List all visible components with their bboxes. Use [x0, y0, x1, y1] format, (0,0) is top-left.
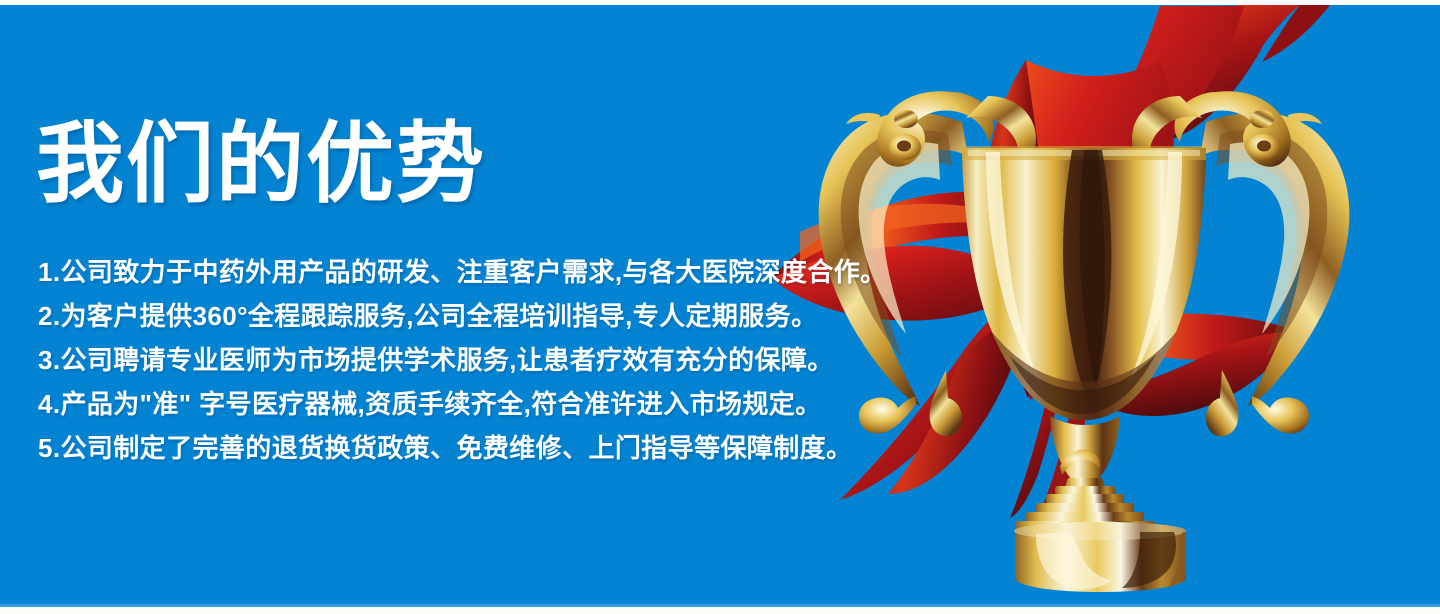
page-title: 我们的优势	[36, 120, 486, 208]
list-item: 3.公司聘请专业医师为市场提供学术服务,让患者疗效有充分的保障。	[38, 338, 898, 382]
list-item: 4.产品为"准" 字号医疗器械,资质手续齐全,符合准许进入市场规定。	[38, 382, 898, 426]
list-item: 2.为客户提供360°全程跟踪服务,公司全程培训指导,专人定期服务。	[38, 294, 898, 338]
bottom-white-strip	[0, 607, 1440, 614]
list-item: 1.公司致力于中药外用产品的研发、注重客户需求,与各大医院深度合作。	[38, 250, 898, 294]
list-item: 5.公司制定了完善的退货换货政策、免费维修、上门指导等保障制度。	[38, 426, 898, 470]
advantages-banner: 我们的优势 1.公司致力于中药外用产品的研发、注重客户需求,与各大医院深度合作。…	[0, 0, 1440, 614]
advantages-list: 1.公司致力于中药外用产品的研发、注重客户需求,与各大医院深度合作。 2.为客户…	[38, 250, 898, 470]
